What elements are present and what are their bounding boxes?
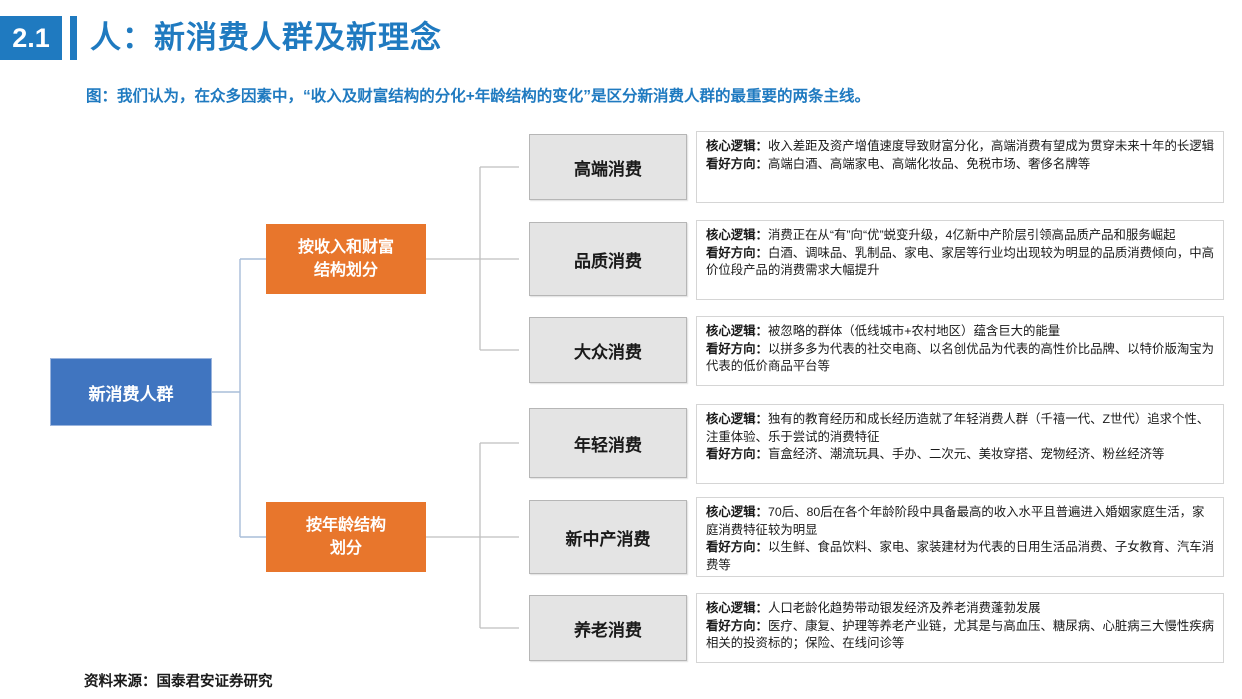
detail-box-2-direction-text: 以拼多多为代表的社交电商、以名创优品为代表的高性价比品牌、以特价版淘宝为代表的低… <box>706 342 1214 374</box>
category-node-2-label: 大众消费 <box>574 338 642 363</box>
detail-box-0-logic-label: 核心逻辑： <box>706 139 768 153</box>
detail-box-0-direction-label: 看好方向： <box>706 157 768 171</box>
branch-node-age-structure[interactable]: 按年龄结构 划分 <box>266 502 426 572</box>
branch-income-label-line1: 按收入和财富 <box>298 236 394 259</box>
detail-box-4: 核心逻辑：70后、80后在各个年龄阶段中具备最高的收入水平且普遍进入婚姻家庭生活… <box>696 497 1224 577</box>
detail-box-0-logic: 核心逻辑：收入差距及资产增值速度导致财富分化，高端消费有望成为贯穿未来十年的长逻… <box>706 138 1214 156</box>
detail-box-2-logic-text: 被忽略的群体（低线城市+农村地区）蕴含巨大的能量 <box>768 324 1060 338</box>
detail-box-4-direction-label: 看好方向： <box>706 540 768 554</box>
detail-box-0: 核心逻辑：收入差距及资产增值速度导致财富分化，高端消费有望成为贯穿未来十年的长逻… <box>696 131 1224 203</box>
detail-box-5-direction: 看好方向：医疗、康复、护理等养老产业链，尤其是与高血压、糖尿病、心脏病三大慢性疾… <box>706 618 1214 653</box>
root-node-label: 新消费人群 <box>89 380 174 405</box>
branch-age-label-line2: 划分 <box>306 537 386 560</box>
detail-box-0-direction: 看好方向：高端白酒、高端家电、高端化妆品、免税市场、奢侈名牌等 <box>706 156 1214 174</box>
detail-box-2-logic: 核心逻辑：被忽略的群体（低线城市+农村地区）蕴含巨大的能量 <box>706 323 1214 341</box>
detail-box-5-direction-label: 看好方向： <box>706 619 768 633</box>
detail-box-2-direction: 看好方向：以拼多多为代表的社交电商、以名创优品为代表的高性价比品牌、以特价版淘宝… <box>706 341 1214 376</box>
detail-box-3-logic-label: 核心逻辑： <box>706 412 768 426</box>
root-node[interactable]: 新消费人群 <box>50 358 212 426</box>
detail-box-1-logic-text: 消费正在从“有”向“优”蜕变升级，4亿新中产阶层引领高品质产品和服务崛起 <box>768 228 1176 242</box>
detail-box-3-logic: 核心逻辑：独有的教育经历和成长经历造就了年轻消费人群（千禧一代、Z世代）追求个性… <box>706 411 1214 446</box>
category-node-5[interactable]: 养老消费 <box>529 595 687 661</box>
source-note: 资料来源：国泰君安证券研究 <box>84 670 273 691</box>
detail-box-1-logic-label: 核心逻辑： <box>706 228 768 242</box>
category-node-1[interactable]: 品质消费 <box>529 222 687 296</box>
detail-box-5-logic: 核心逻辑：人口老龄化趋势带动银发经济及养老消费蓬勃发展 <box>706 600 1214 618</box>
branch-node-income-wealth[interactable]: 按收入和财富 结构划分 <box>266 224 426 294</box>
branch-income-label-line2: 结构划分 <box>298 259 394 282</box>
category-node-4[interactable]: 新中产消费 <box>529 500 687 574</box>
category-node-2[interactable]: 大众消费 <box>529 317 687 383</box>
detail-box-0-logic-text: 收入差距及资产增值速度导致财富分化，高端消费有望成为贯穿未来十年的长逻辑 <box>768 139 1214 153</box>
detail-box-4-logic-label: 核心逻辑： <box>706 505 768 519</box>
detail-box-2: 核心逻辑：被忽略的群体（低线城市+农村地区）蕴含巨大的能量 看好方向：以拼多多为… <box>696 316 1224 386</box>
category-node-0-label: 高端消费 <box>574 155 642 180</box>
detail-box-0-direction-text: 高端白酒、高端家电、高端化妆品、免税市场、奢侈名牌等 <box>768 157 1090 171</box>
detail-box-5-logic-label: 核心逻辑： <box>706 601 768 615</box>
branch-age-label-line1: 按年龄结构 <box>306 514 386 537</box>
detail-box-3-direction-text: 盲盒经济、潮流玩具、手办、二次元、美妆穿搭、宠物经济、粉丝经济等 <box>768 447 1165 461</box>
category-node-5-label: 养老消费 <box>574 616 642 641</box>
detail-box-1-direction: 看好方向：白酒、调味品、乳制品、家电、家居等行业均出现较为明显的品质消费倾向，中… <box>706 245 1214 280</box>
detail-box-3-logic-text: 独有的教育经历和成长经历造就了年轻消费人群（千禧一代、Z世代）追求个性、注重体验… <box>706 412 1209 444</box>
category-node-3-label: 年轻消费 <box>574 431 642 456</box>
category-node-0[interactable]: 高端消费 <box>529 134 687 200</box>
detail-box-3-direction-label: 看好方向： <box>706 447 768 461</box>
detail-box-1-logic: 核心逻辑：消费正在从“有”向“优”蜕变升级，4亿新中产阶层引领高品质产品和服务崛… <box>706 227 1214 245</box>
detail-box-2-logic-label: 核心逻辑： <box>706 324 768 338</box>
category-node-1-label: 品质消费 <box>574 247 642 272</box>
detail-box-1: 核心逻辑：消费正在从“有”向“优”蜕变升级，4亿新中产阶层引领高品质产品和服务崛… <box>696 220 1224 300</box>
detail-box-4-logic-text: 70后、80后在各个年龄阶段中具备最高的收入水平且普遍进入婚姻家庭生活，家庭消费… <box>706 505 1204 537</box>
detail-box-5-logic-text: 人口老龄化趋势带动银发经济及养老消费蓬勃发展 <box>768 601 1041 615</box>
category-node-3[interactable]: 年轻消费 <box>529 408 687 478</box>
detail-box-3-direction: 看好方向：盲盒经济、潮流玩具、手办、二次元、美妆穿搭、宠物经济、粉丝经济等 <box>706 446 1214 464</box>
mindmap-diagram: 新消费人群 按收入和财富 结构划分 按年龄结构 划分 高端消费 品质消费 大众消… <box>0 0 1242 699</box>
category-node-4-label: 新中产消费 <box>566 525 651 550</box>
detail-box-2-direction-label: 看好方向： <box>706 342 768 356</box>
detail-box-4-direction: 看好方向：以生鲜、食品饮料、家电、家装建材为代表的日用生活品消费、子女教育、汽车… <box>706 539 1214 574</box>
detail-box-4-logic: 核心逻辑：70后、80后在各个年龄阶段中具备最高的收入水平且普遍进入婚姻家庭生活… <box>706 504 1214 539</box>
detail-box-5-direction-text: 医疗、康复、护理等养老产业链，尤其是与高血压、糖尿病、心脏病三大慢性疾病相关的投… <box>706 619 1214 651</box>
detail-box-1-direction-label: 看好方向： <box>706 246 768 260</box>
detail-box-4-direction-text: 以生鲜、食品饮料、家电、家装建材为代表的日用生活品消费、子女教育、汽车消费等 <box>706 540 1214 572</box>
detail-box-5: 核心逻辑：人口老龄化趋势带动银发经济及养老消费蓬勃发展 看好方向：医疗、康复、护… <box>696 593 1224 663</box>
detail-box-1-direction-text: 白酒、调味品、乳制品、家电、家居等行业均出现较为明显的品质消费倾向，中高价位段产… <box>706 246 1214 278</box>
detail-box-3: 核心逻辑：独有的教育经历和成长经历造就了年轻消费人群（千禧一代、Z世代）追求个性… <box>696 404 1224 484</box>
